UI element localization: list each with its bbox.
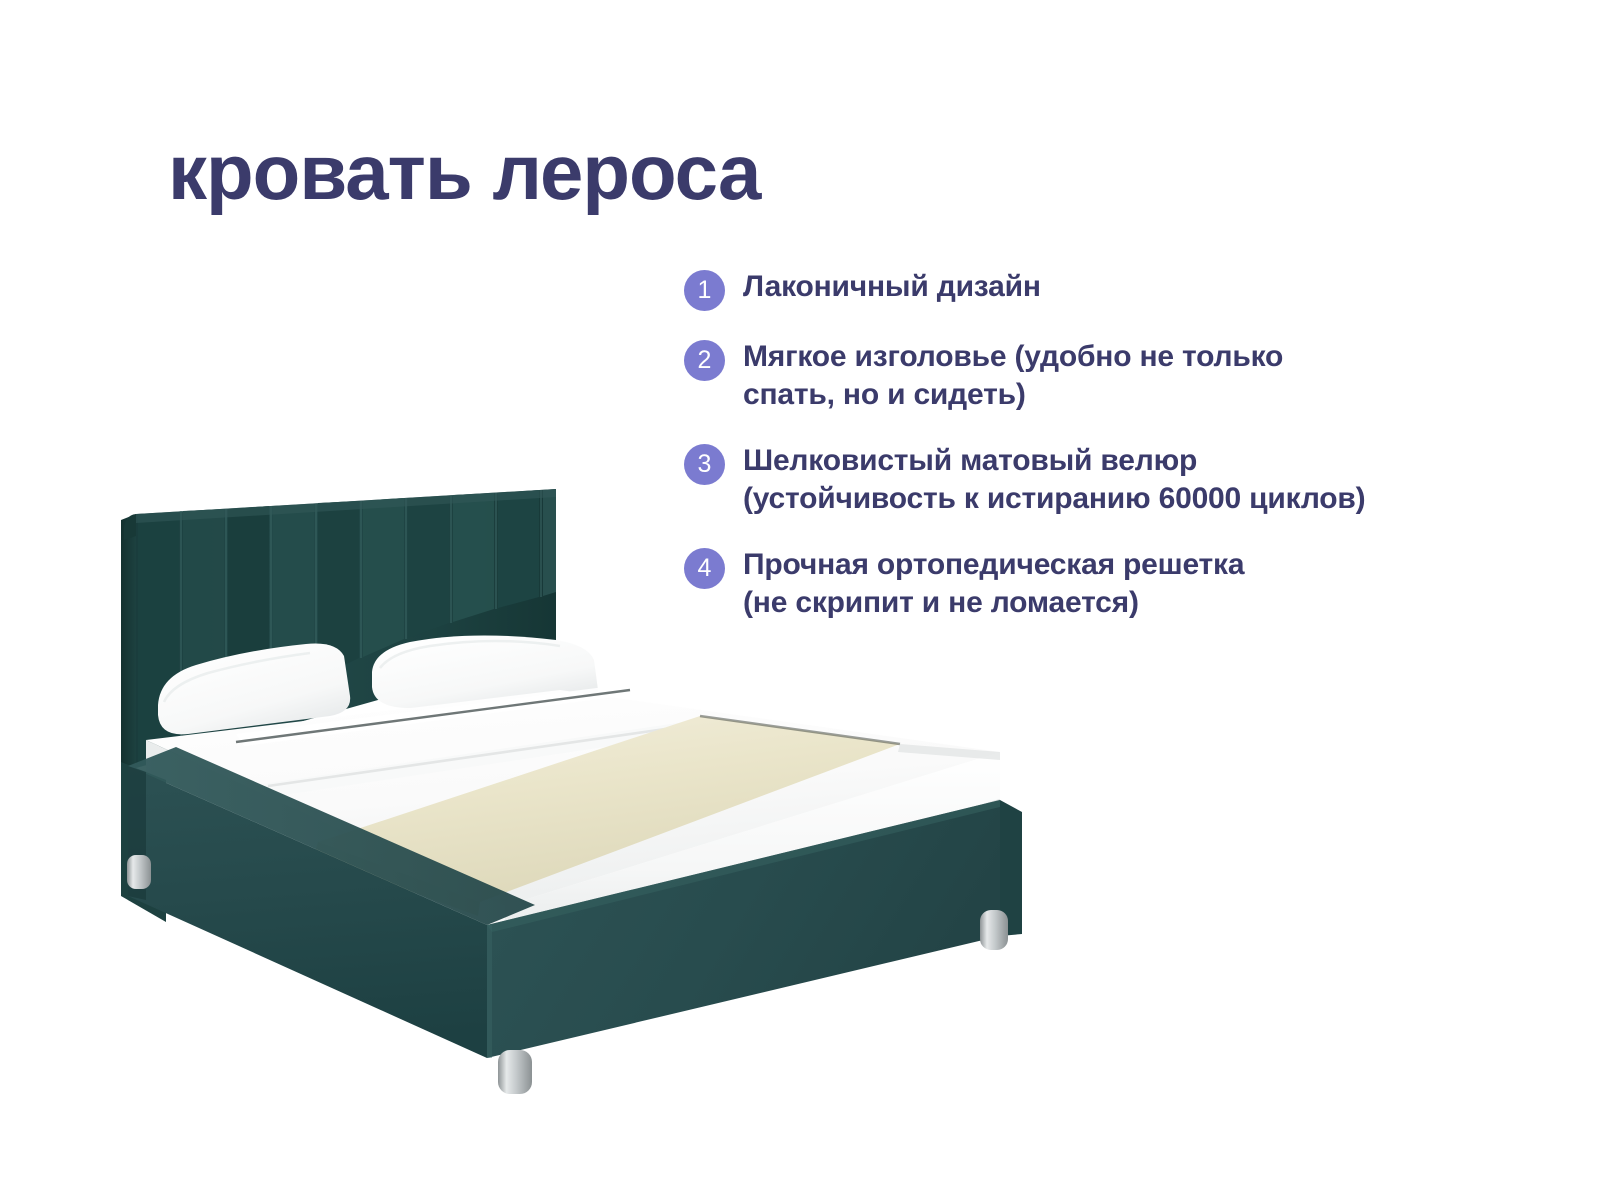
feature-text-2: Мягкое изголовье (удобно не только спать… xyxy=(743,338,1283,415)
feature-badge-4: 4 xyxy=(684,548,725,589)
page-title: кровать лероса xyxy=(168,133,760,211)
leg-chrome-right xyxy=(980,910,1008,950)
feature-line-3a: Шелковистый матовый велюр xyxy=(743,444,1197,477)
feature-text-3: Шелковистый матовый велюр (устойчивость … xyxy=(743,442,1365,519)
feature-line-4b: (не скрипит и не ломается) xyxy=(743,584,1244,622)
product-promo-canvas: кровать лероса 1 Лаконичный дизайн 2 Мяг… xyxy=(0,0,1600,1200)
feature-line-1a: Лаконичный дизайн xyxy=(743,270,1041,303)
feature-line-2a: Мягкое изголовье (удобно не только xyxy=(743,340,1283,373)
leg-chrome-rear-left xyxy=(127,855,151,889)
feature-line-2b: спать, но и сидеть) xyxy=(743,376,1283,414)
feature-line-3b: (устойчивость к истиранию 60000 циклов) xyxy=(743,480,1365,518)
feature-line-4a: Прочная ортопедическая решетка xyxy=(743,548,1244,581)
feature-text-1: Лаконичный дизайн xyxy=(743,268,1041,306)
feature-item-1: 1 Лаконичный дизайн xyxy=(684,268,1514,311)
feature-item-4: 4 Прочная ортопедическая решетка (не скр… xyxy=(684,546,1514,623)
feature-badge-2: 2 xyxy=(684,340,725,381)
feature-item-3: 3 Шелковистый матовый велюр (устойчивост… xyxy=(684,442,1514,519)
leg-chrome-front xyxy=(498,1050,532,1094)
feature-item-2: 2 Мягкое изголовье (удобно не только спа… xyxy=(684,338,1514,415)
feature-badge-3: 3 xyxy=(684,444,725,485)
feature-text-4: Прочная ортопедическая решетка (не скрип… xyxy=(743,546,1244,623)
feature-list: 1 Лаконичный дизайн 2 Мягкое изголовье (… xyxy=(684,268,1514,649)
feature-badge-1: 1 xyxy=(684,270,725,311)
